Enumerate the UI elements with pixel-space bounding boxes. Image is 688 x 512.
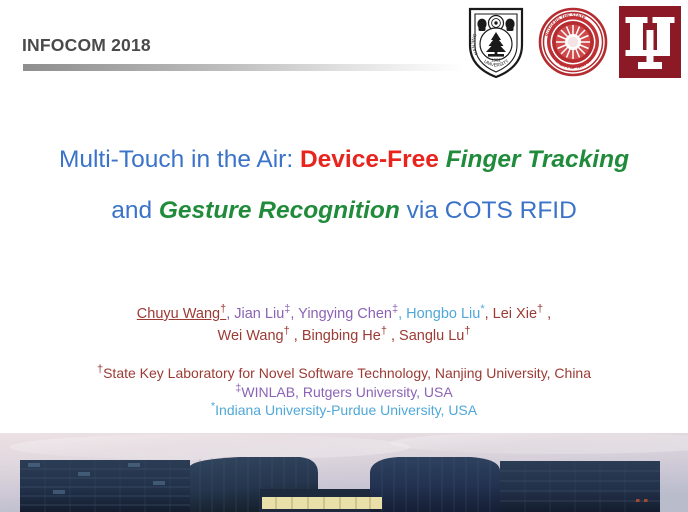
header-divider-rule <box>23 64 463 71</box>
author-wei-wang: Wei Wang† <box>218 328 290 344</box>
affiliation-text: WINLAB, Rutgers University, USA <box>241 384 452 400</box>
author-list: Chuyu Wang†, Jian Liu‡, Yingying Chen‡, … <box>0 303 688 347</box>
conference-name: INFOCOM 2018 <box>22 35 151 56</box>
affiliation-list: †State Key Laboratory for Novel Software… <box>0 364 688 420</box>
campus-building-photo <box>0 433 688 512</box>
indiana-university-logo <box>616 3 684 81</box>
affiliation-text: Indiana University-Purdue University, US… <box>215 402 477 418</box>
title-segment-red-1: Device-Free <box>300 146 446 173</box>
affiliation-nanjing: †State Key Laboratory for Novel Software… <box>0 364 688 383</box>
title-line-1: Multi-Touch in the Air: Device-Free Fing… <box>0 134 688 185</box>
author-jian-liu: , Jian Liu‡ <box>226 306 290 322</box>
affiliation-indiana: *Indiana University-Purdue University, U… <box>0 401 688 420</box>
affiliation-text: State Key Laboratory for Novel Software … <box>103 365 591 381</box>
affiliation-winlab: ‡WINLAB, Rutgers University, USA <box>0 383 688 402</box>
title-segment-blue-3: via COTS RFID <box>400 197 577 224</box>
author-chuyu-wang: Chuyu Wang† <box>137 306 226 322</box>
author-sanglu-lu: , Sanglu Lu† <box>387 328 471 344</box>
author-yingying-chen: , Yingying Chen‡ <box>290 306 398 322</box>
university-logo-row: 1902 NANJING UNIVERSITY <box>462 3 684 81</box>
title-segment-blue-1: Multi-Touch in the Air: <box>59 146 300 173</box>
title-line-2: and Gesture Recognition via COTS RFID <box>0 185 688 236</box>
title-segment-blue-2: and <box>111 197 159 224</box>
author-hongbo-liu: , Hongbo Liu* <box>398 306 485 322</box>
author-bingbing-he: , Bingbing He† <box>290 328 387 344</box>
author-marker: † <box>464 325 470 337</box>
svg-text:1902: 1902 <box>491 58 501 63</box>
author-line-1: Chuyu Wang†, Jian Liu‡, Yingying Chen‡, … <box>0 303 688 325</box>
rutgers-university-logo: RUTGERS THE STATE UNIVERSITY OF NEW JERS… <box>536 3 610 81</box>
author-lei-xie: , Lei Xie† <box>485 306 544 322</box>
nanjing-university-logo: 1902 NANJING UNIVERSITY <box>462 3 530 81</box>
slide-title: Multi-Touch in the Air: Device-Free Fing… <box>0 134 688 236</box>
author-line1-trailing: , <box>543 306 551 322</box>
title-segment-green-2: Gesture Recognition <box>159 197 400 224</box>
author-line-2: Wei Wang† , Bingbing He† , Sanglu Lu† <box>0 325 688 347</box>
title-segment-green-1: Finger Tracking <box>446 146 629 173</box>
presentation-slide: INFOCOM 2018 1902 <box>0 0 688 512</box>
